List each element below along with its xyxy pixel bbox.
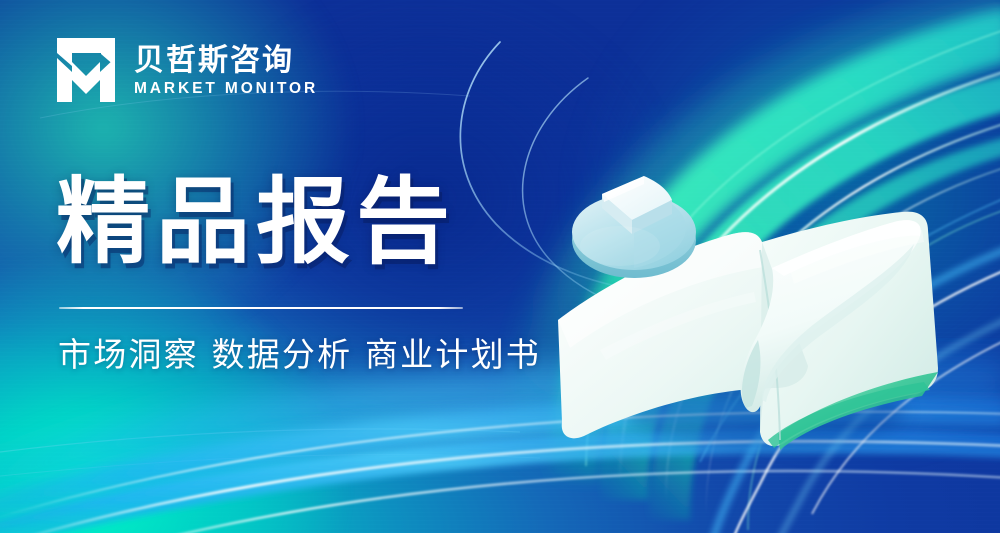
brand-name-cn: 贝哲斯咨询	[134, 46, 318, 76]
page-title: 精品报告	[56, 176, 456, 270]
brand-name-en: MARKET MONITOR	[134, 81, 318, 97]
brand-logo[interactable]: 贝哲斯咨询 MARKET MONITOR	[55, 36, 318, 104]
bezhisi-m-monogram-icon	[55, 36, 117, 104]
brand-logo-text: 贝哲斯咨询 MARKET MONITOR	[134, 44, 318, 97]
pie-chart-disc-icon	[572, 176, 696, 278]
title-divider	[59, 307, 463, 309]
promo-banner: 贝哲斯咨询 MARKET MONITOR 精品报告 市场洞察 数据分析 商业计划…	[0, 0, 1000, 533]
open-book-illustration	[540, 150, 960, 450]
subtitle: 市场洞察 数据分析 商业计划书	[58, 334, 541, 375]
